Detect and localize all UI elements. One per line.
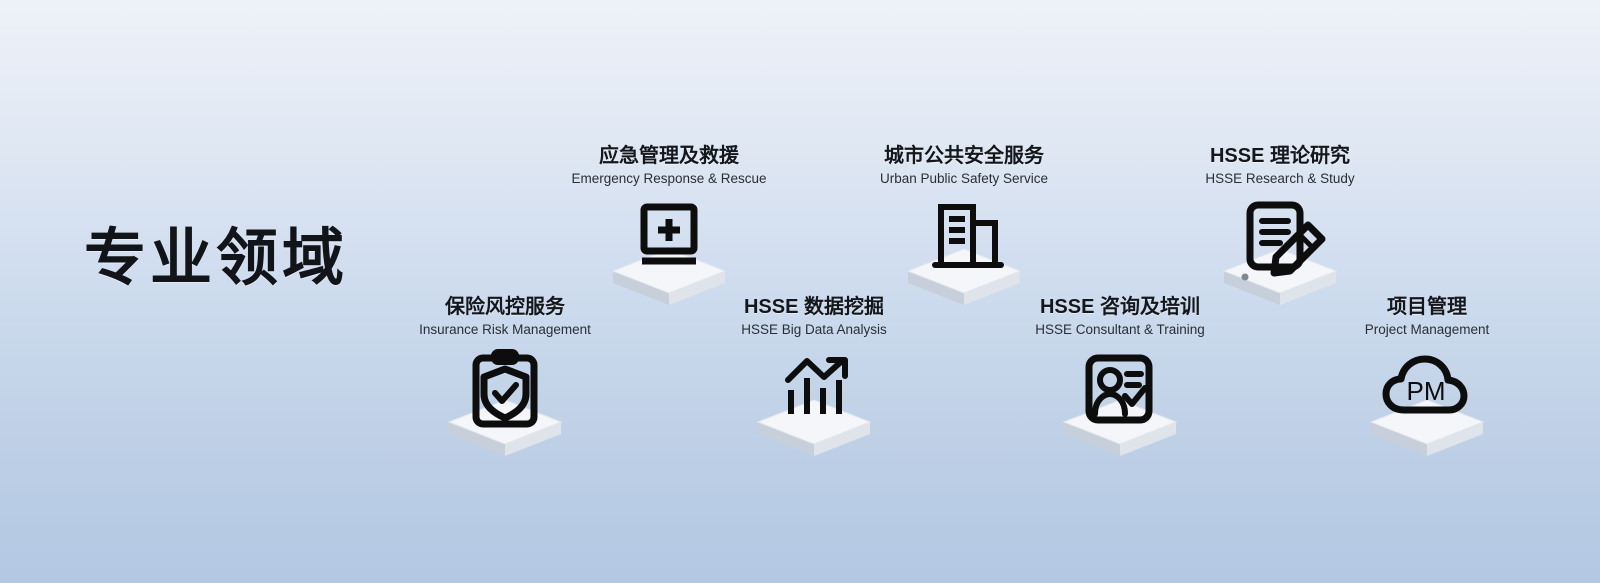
- professional-fields-banner: 专业领域 应急管理及救援 Emergency Response & Rescue: [0, 0, 1600, 583]
- item-icon-wrap: [829, 201, 1099, 309]
- item-title: HSSE 数据挖掘: [679, 296, 949, 319]
- item-title: HSSE 理论研究: [1145, 145, 1415, 168]
- item-icon-wrap: [534, 201, 804, 309]
- item-subtitle: Emergency Response & Rescue: [534, 171, 804, 187]
- bar-chart-trend-up-icon: [729, 352, 899, 460]
- first-aid-glyph: [642, 207, 696, 261]
- pedestal-dot: [1242, 274, 1249, 281]
- item-subtitle: HSSE Big Data Analysis: [679, 322, 949, 338]
- item-urban-public-safety-service[interactable]: 城市公共安全服务 Urban Public Safety Service: [829, 145, 1099, 309]
- cloud-pm-icon: PM: [1342, 352, 1512, 460]
- item-hsse-consultant-training[interactable]: HSSE 咨询及培训 HSSE Consultant & Training: [985, 296, 1255, 460]
- item-title: HSSE 咨询及培训: [985, 296, 1255, 319]
- clipboard-shield-check-icon: [420, 352, 590, 460]
- pedestal: [758, 400, 870, 456]
- city-buildings-icon: [879, 201, 1049, 309]
- item-subtitle: HSSE Research & Study: [1145, 171, 1415, 187]
- item-subtitle: HSSE Consultant & Training: [985, 322, 1255, 338]
- trend-arrow-glyph: [788, 360, 845, 380]
- document-pencil-icon: [1195, 201, 1365, 309]
- item-title: 保险风控服务: [370, 296, 640, 319]
- item-title: 城市公共安全服务: [829, 145, 1099, 168]
- person-id-card-check-icon: [1035, 352, 1205, 460]
- item-icon-wrap: PM: [1292, 352, 1562, 460]
- item-icon-wrap: [370, 352, 640, 460]
- check-glyph: [1125, 388, 1145, 404]
- first-aid-monitor-icon: [584, 201, 754, 309]
- item-icon-wrap: [679, 352, 949, 460]
- item-subtitle: Project Management: [1292, 322, 1562, 338]
- item-hsse-research-study[interactable]: HSSE 理论研究 HSSE Research & Study: [1145, 145, 1415, 309]
- item-project-management[interactable]: 项目管理 Project Management PM: [1292, 296, 1562, 460]
- item-subtitle: Insurance Risk Management: [370, 322, 640, 338]
- item-title: 应急管理及救援: [534, 145, 804, 168]
- page-title: 专业领域: [84, 228, 348, 290]
- item-icon-wrap: [985, 352, 1255, 460]
- item-emergency-response-rescue[interactable]: 应急管理及救援 Emergency Response & Rescue: [534, 145, 804, 309]
- item-subtitle: Urban Public Safety Service: [829, 171, 1099, 187]
- item-icon-wrap: [1145, 201, 1415, 309]
- cloud-pm-label: PM: [1407, 376, 1446, 406]
- pedestal: [1064, 400, 1176, 456]
- item-title: 项目管理: [1292, 296, 1562, 319]
- item-hsse-big-data-analysis[interactable]: HSSE 数据挖掘 HSSE Big Data Analysis: [679, 296, 949, 460]
- pedestal: [449, 400, 561, 456]
- item-insurance-risk-management[interactable]: 保险风控服务 Insurance Risk Management: [370, 296, 640, 460]
